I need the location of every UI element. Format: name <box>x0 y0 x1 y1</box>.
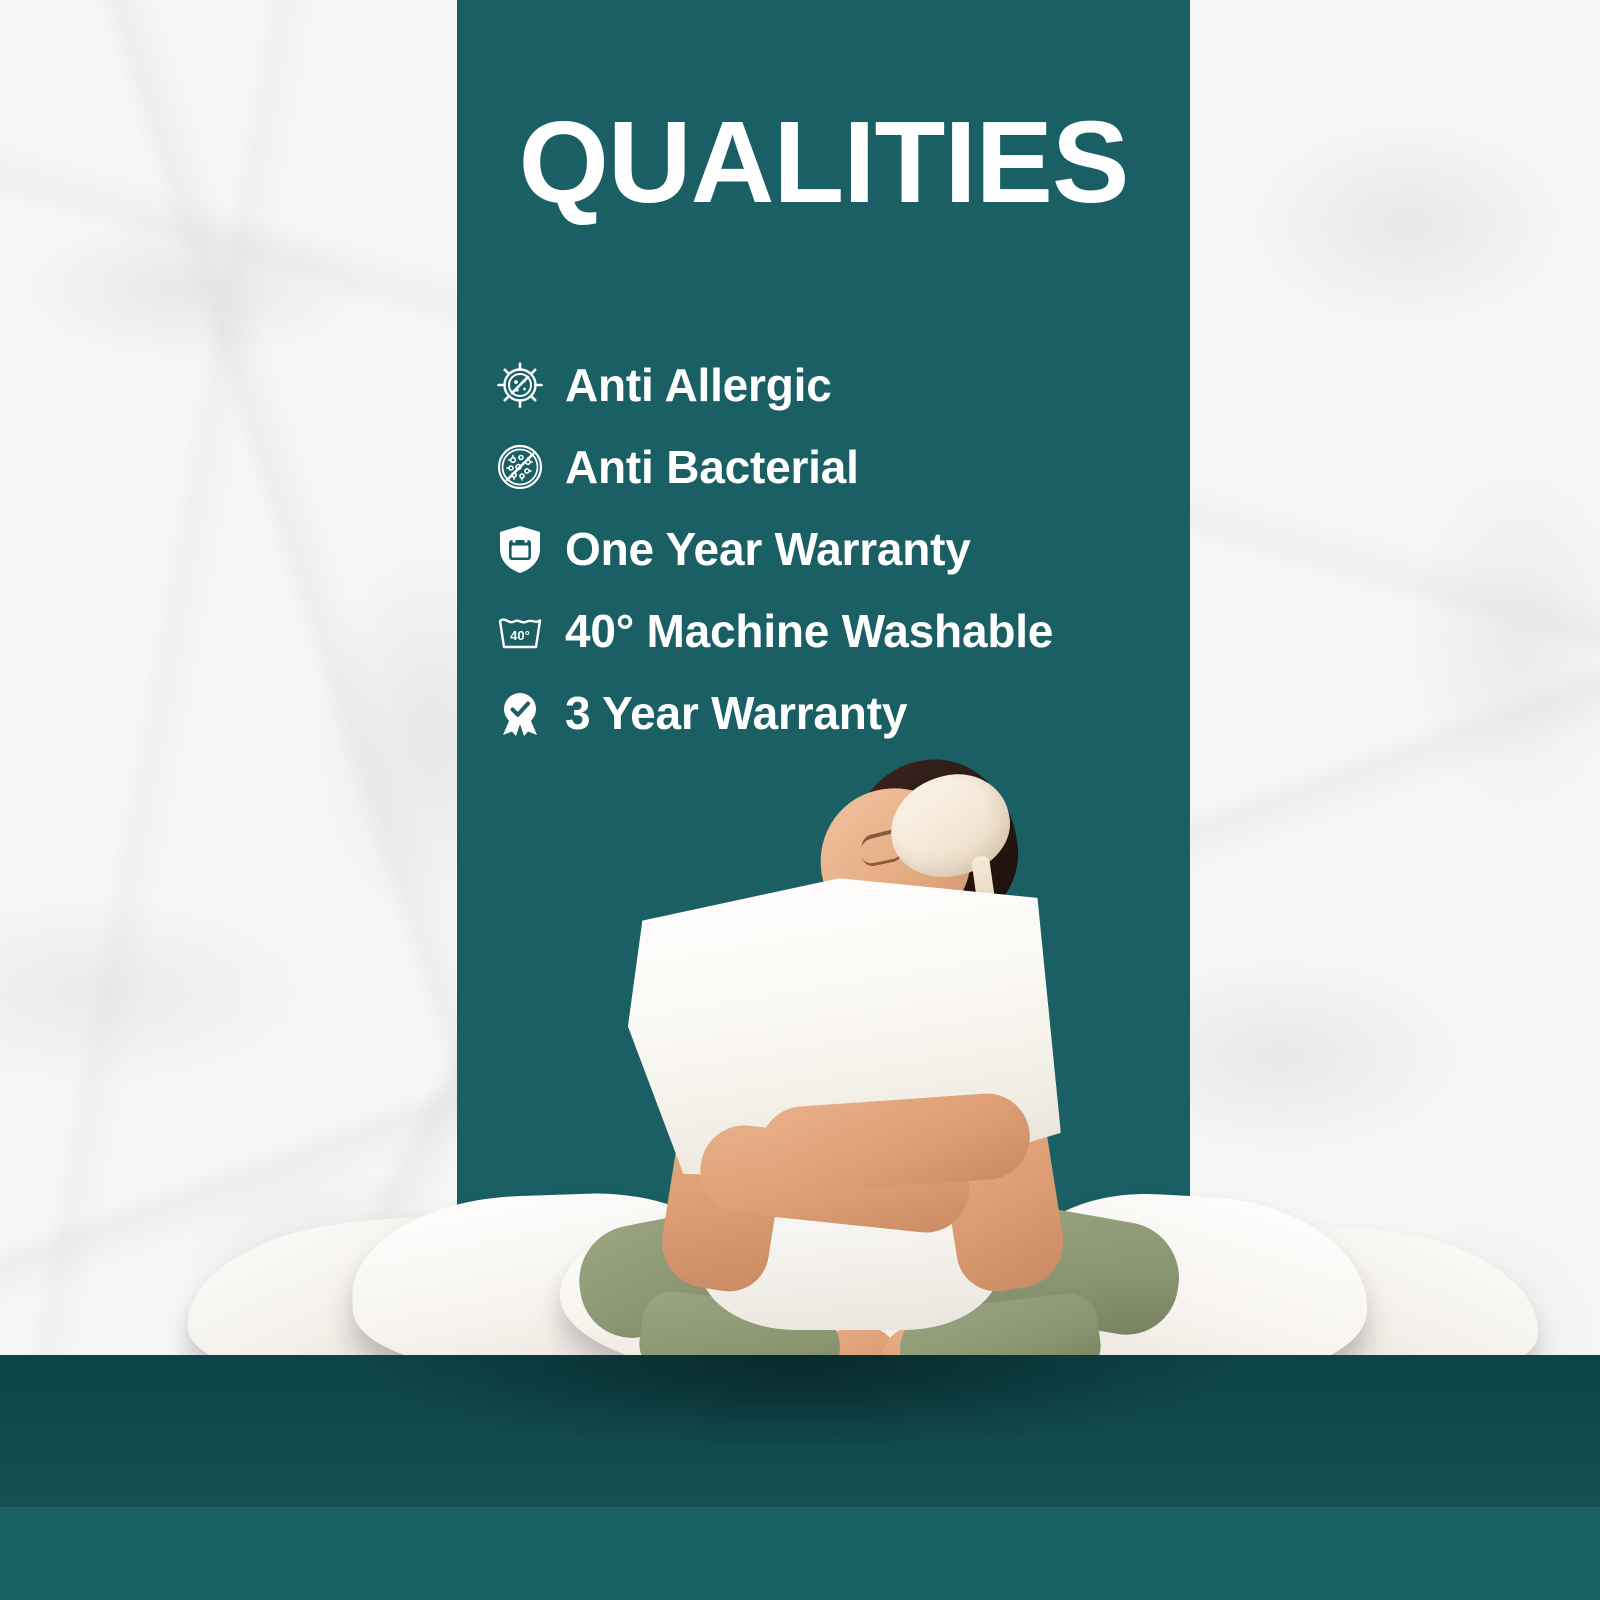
wash-temperature-label: 40° <box>510 628 530 643</box>
feature-row-anti-bacterial: Anti Bacterial <box>492 426 1192 508</box>
feature-label: Anti Bacterial <box>565 440 859 494</box>
product-feature-graphic: QUALITIES <box>0 0 1600 1600</box>
feature-label: 40° Machine Washable <box>565 604 1053 658</box>
feature-row-machine-washable: 40° 40° Machine Washable <box>492 590 1192 672</box>
virus-allergen-blocked-icon <box>492 359 548 411</box>
floor-band-dark <box>0 1355 1600 1507</box>
bacteria-blocked-icon <box>492 441 548 493</box>
page-title: QUALITIES <box>457 104 1190 220</box>
feature-label: Anti Allergic <box>565 358 832 412</box>
wash-tub-40-degrees-icon: 40° <box>492 609 548 653</box>
feature-row-anti-allergic: Anti Allergic <box>492 344 1192 426</box>
floor-band-light <box>0 1507 1600 1600</box>
feature-row-one-year-warranty: One Year Warranty <box>492 508 1192 590</box>
shield-calendar-icon <box>492 523 548 575</box>
feature-list: Anti Allergic <box>492 344 1192 754</box>
feature-label: One Year Warranty <box>565 522 971 576</box>
